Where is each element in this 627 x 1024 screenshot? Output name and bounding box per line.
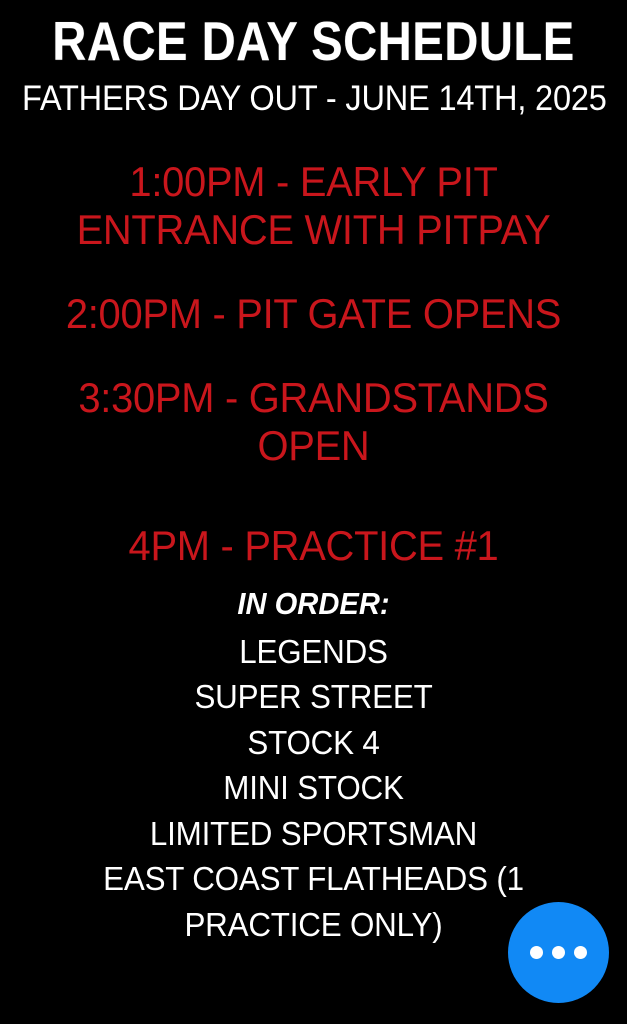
list-item: STOCK 4 [16, 720, 612, 766]
more-horizontal-icon-dot-2 [552, 946, 565, 959]
practice-order-label: IN ORDER: [19, 585, 608, 622]
schedule-item-4: 4PM - PRACTICE #1 [16, 522, 612, 570]
list-item: MINI STOCK [16, 765, 612, 811]
page-subtitle: FATHERS DAY OUT - JUNE 14TH, 2025 [22, 79, 605, 118]
list-item: SUPER STREET [16, 674, 612, 720]
list-item: LIMITED SPORTSMAN [16, 811, 612, 857]
more-horizontal-icon-dot-3 [574, 946, 587, 959]
page-title: RACE DAY SCHEDULE [44, 14, 583, 69]
race-day-schedule-poster: RACE DAY SCHEDULE FATHERS DAY OUT - JUNE… [0, 0, 627, 1024]
more-options-fab[interactable] [508, 902, 609, 1003]
list-item: LEGENDS [16, 629, 612, 675]
schedule-list: 1:00PM - EARLY PIT ENTRANCE WITH PITPAY … [0, 158, 627, 569]
more-horizontal-icon-dot-1 [530, 946, 543, 959]
practice-class-list: LEGENDS SUPER STREET STOCK 4 MINI STOCK … [0, 629, 627, 948]
schedule-item-1: 1:00PM - EARLY PIT ENTRANCE WITH PITPAY [16, 158, 612, 254]
schedule-item-3: 3:30PM - GRANDSTANDS OPEN [16, 374, 612, 470]
schedule-item-2: 2:00PM - PIT GATE OPENS [16, 290, 612, 338]
